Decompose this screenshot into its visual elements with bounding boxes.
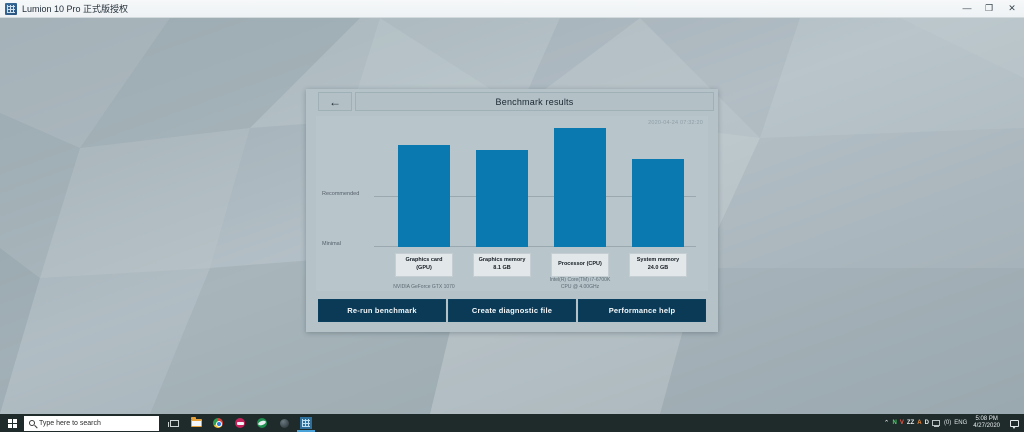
benchmark-results-dialog: ← Benchmark results 2020-04-24 07:32:20 …: [306, 89, 718, 332]
caption-line-2: (GPU): [397, 265, 451, 273]
sub-line-1: NVIDIA GeForce GTX 1070: [376, 284, 472, 291]
benchmark-chart-panel: 2020-04-24 07:32:20 Recommended Minimal …: [316, 116, 708, 291]
tray-item-v[interactable]: V: [900, 420, 904, 426]
bar-caption-graphics-card: Graphics card (GPU): [395, 253, 453, 277]
bar-caption-graphics-memory: Graphics memory 8.1 GB: [473, 253, 531, 277]
bar-caption-system-memory: System memory 24.0 GB: [629, 253, 687, 277]
sphere-icon[interactable]: [273, 414, 295, 432]
performance-help-button[interactable]: Performance help: [578, 299, 706, 322]
clock-time: 5:08 PM: [975, 416, 997, 423]
window-titlebar: Lumion 10 Pro 正式版授权 — ❐ ✕: [0, 0, 1024, 18]
system-tray: ⌃ N V ZZ A D (0) ENG 5:08 PM 4/27/2020: [884, 414, 1024, 432]
caption-line-2: 8.1 GB: [475, 265, 529, 273]
minimize-button[interactable]: —: [956, 0, 978, 18]
file-explorer-icon[interactable]: [185, 414, 207, 432]
page-title: Benchmark results: [496, 97, 574, 107]
lumion-icon: [5, 3, 17, 15]
bar-graphics-memory: [476, 150, 528, 247]
create-diagnostic-file-button[interactable]: Create diagnostic file: [448, 299, 576, 322]
gridline-label-recommended: Recommended: [322, 191, 359, 197]
search-placeholder: Type here to search: [39, 420, 101, 427]
sub-line-2: CPU @ 4.00GHz: [532, 284, 628, 291]
benchmark-header: ← Benchmark results: [306, 89, 718, 114]
caption-line-2: 24.0 GB: [631, 265, 685, 273]
benchmark-timestamp: 2020-04-24 07:32:20: [648, 120, 703, 126]
maximize-button[interactable]: ❐: [978, 0, 1000, 18]
network-glyph: [932, 419, 941, 427]
tray-item-d[interactable]: D: [925, 420, 929, 426]
caption-line-1: Graphics card: [397, 257, 451, 265]
bar-sub-graphics-card: NVIDIA GeForce GTX 1070: [376, 284, 472, 291]
lumion-taskbar-icon[interactable]: [295, 414, 317, 432]
taskbar-icons: [163, 414, 317, 432]
back-arrow-icon: ←: [329, 96, 341, 108]
back-button[interactable]: ←: [318, 92, 352, 111]
re-run-benchmark-button[interactable]: Re-run benchmark: [318, 299, 446, 322]
search-input[interactable]: Type here to search: [24, 416, 159, 431]
clock-date: 4/27/2020: [973, 423, 1000, 430]
close-button[interactable]: ✕: [1000, 0, 1024, 18]
tray-item-a[interactable]: A: [917, 420, 921, 426]
tray-expand-icon[interactable]: ⌃: [884, 420, 890, 427]
window-controls: — ❐ ✕: [956, 0, 1024, 18]
tray-item-n[interactable]: N: [893, 420, 897, 426]
caption-line-1: System memory: [631, 257, 685, 265]
bar-sub-processor: Intel(R) Core(TM) i7-6700K CPU @ 4.00GHz: [532, 277, 628, 291]
caption-line-1: Graphics memory: [475, 257, 529, 265]
start-button[interactable]: [0, 414, 24, 432]
bar-system-memory: [632, 159, 684, 247]
chrome-icon[interactable]: [207, 414, 229, 432]
windows-start-icon: [8, 419, 17, 428]
clock[interactable]: 5:08 PM 4/27/2020: [970, 416, 1003, 430]
bar-caption-processor: Processor (CPU): [551, 253, 609, 277]
sub-line-1: Intel(R) Core(TM) i7-6700K: [532, 277, 628, 284]
taskbar: Type here to search ⌃ N V ZZ A D: [0, 414, 1024, 432]
globe-icon[interactable]: [251, 414, 273, 432]
caption-line-1: Processor (CPU): [553, 261, 607, 269]
language-indicator[interactable]: ENG: [954, 420, 967, 426]
notifications-icon[interactable]: [1006, 414, 1022, 432]
window-title: Lumion 10 Pro 正式版授权: [22, 2, 128, 15]
benchmark-title-bar: Benchmark results: [355, 92, 714, 111]
search-icon: [29, 420, 35, 426]
tray-item-zz[interactable]: ZZ: [907, 420, 914, 426]
bar-graphics-card: [398, 145, 450, 247]
recorder-icon[interactable]: [229, 414, 251, 432]
network-icon[interactable]: [932, 419, 941, 427]
task-view-icon[interactable]: [163, 414, 185, 432]
gridline-label-minimal: Minimal: [322, 241, 341, 247]
volume-icon[interactable]: (0): [944, 420, 951, 426]
bar-processor: [554, 128, 606, 247]
desktop-screen: Lumion 10 Pro 正式版授权 — ❐ ✕ ← Benchmark re…: [0, 0, 1024, 432]
notification-bubble-glyph: [1010, 420, 1019, 427]
benchmark-footer: Re-run benchmark Create diagnostic file …: [318, 299, 706, 322]
